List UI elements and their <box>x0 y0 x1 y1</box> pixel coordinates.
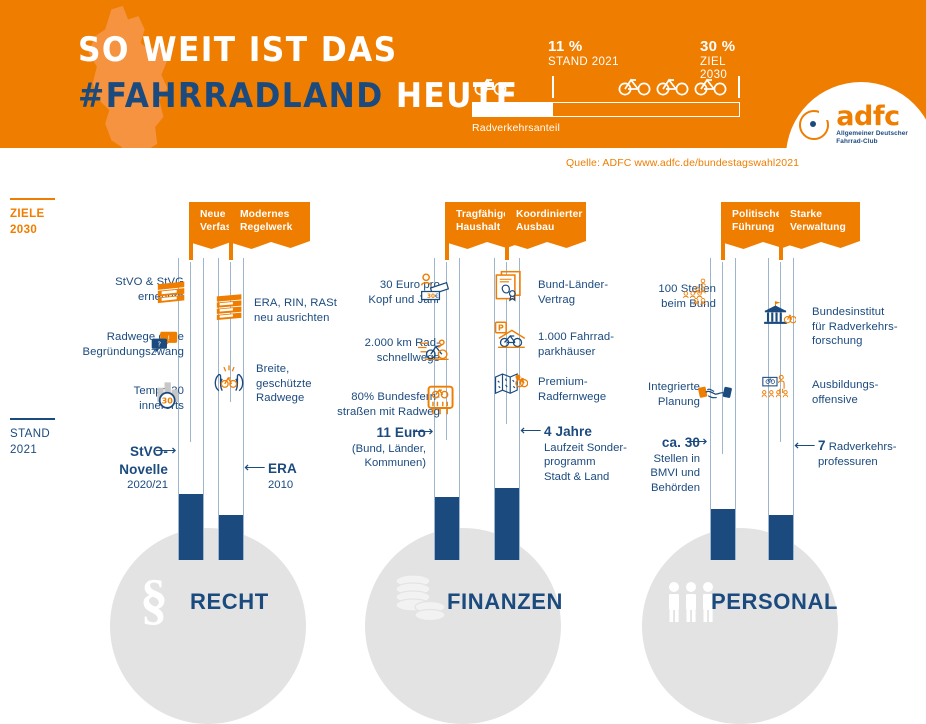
contract-seal-icon <box>492 270 526 302</box>
bike-parking-icon: P <box>494 320 528 352</box>
flag-koordinierter-ausbau: Koordinierter Ausbau <box>508 202 586 252</box>
item-bund-laender-vertrag: Bund-Länder- Vertrag <box>538 278 608 307</box>
group-name-recht: RECHT <box>190 589 269 615</box>
headline-line1: SO WEIT IST DAS <box>78 30 518 70</box>
scale-goal-line2: 2030 <box>10 223 55 239</box>
flag-modernes-regelwerk: Modernes Regelwerk <box>232 202 310 252</box>
flag-line2-starke-verwaltung: Verwaltung <box>790 222 846 233</box>
base-callout-era: ERA 2010 <box>268 460 297 492</box>
base-headline: ERA <box>268 460 297 478</box>
progress-current-year: STAND 2021 <box>548 56 619 70</box>
source-note: Quelle: ADFC www.adfc.de/bundestagswahl2… <box>566 157 799 169</box>
tube-fill-politische-fuehrung <box>711 509 735 560</box>
item-label-line2: geschützte <box>256 378 312 390</box>
item-label-line1: Ausbildungs- <box>812 379 879 391</box>
progress-target-value: 30 % <box>700 38 752 56</box>
flag-line1-politische-fuehrung: Politische <box>732 209 782 220</box>
tube-fill-tragfaehiger-haushalt <box>435 497 459 560</box>
svg-text:30: 30 <box>427 294 435 300</box>
base-sub2: Kommunen) <box>326 456 426 471</box>
item-1000-fahrradparkhaeuser: 1.000 Fahrrad- parkhäuser <box>538 330 614 359</box>
tube-connector-6 <box>780 262 781 442</box>
coins-icon <box>392 572 448 626</box>
item-label-line3: Radwege <box>256 392 304 404</box>
item-label-line1: Breite, <box>256 363 289 375</box>
base-headline-rest: Radverkehrs- <box>829 441 897 453</box>
item-label-line2: für Radverkehrs- <box>812 321 898 333</box>
headline-rest: HEUTE <box>396 76 519 116</box>
pedestal-personal <box>642 528 838 724</box>
flagpole-starke-verwaltung <box>779 202 783 260</box>
svg-text:!: ! <box>167 334 170 342</box>
base-sub: professuren <box>818 455 897 470</box>
base-headline-line2: Novelle <box>74 461 168 479</box>
bicycle-icon <box>694 76 728 96</box>
item-label-line2: neu ausrichten <box>254 312 330 324</box>
flagpole-politische-fuehrung <box>721 202 725 260</box>
handshake-icon <box>698 378 732 410</box>
map-route-icon <box>494 368 528 400</box>
adfc-subtitle-line2: Fahrrad-Club <box>836 138 908 146</box>
scale-goal-line1: ZIELE <box>10 207 55 223</box>
adfc-wordmark: adfc <box>836 104 908 130</box>
base-sub: 2010 <box>268 478 297 493</box>
scale-status-2021: STAND 2021 <box>10 418 55 458</box>
progress-current-label: 11 % STAND 2021 <box>548 38 619 69</box>
progress-current-value: 11 % <box>548 38 619 56</box>
arrow-to-tube-5: ⟶ <box>686 434 708 449</box>
base-callout-11-euro: 11 Euro (Bund, Länder, Kommunen) <box>326 424 426 471</box>
standards-books-icon <box>214 292 248 324</box>
bike-highway-sign-icon <box>424 384 458 416</box>
headline-hashtag: #FAHRRADLAND <box>78 76 384 116</box>
tube-fill-koordinierter-ausbau <box>495 488 519 560</box>
adfc-wheel-icon <box>799 110 829 140</box>
scale-now-rule <box>10 418 55 420</box>
base-sub: Stellen in <box>610 452 700 467</box>
group-name-personal: PERSONAL <box>711 589 838 615</box>
base-headline: 11 Euro <box>326 424 426 442</box>
arrow-to-tube-1: ⟶ <box>155 443 177 458</box>
arrow-to-tube-6: ⟵ <box>794 438 816 453</box>
institute-building-icon <box>762 298 796 330</box>
flagpole-modernes-regelwerk <box>229 202 233 260</box>
flagpole-koordinierter-ausbau <box>505 202 509 260</box>
arrow-to-tube-2: ⟵ <box>244 460 266 475</box>
header-banner: SO WEIT IST DAS #FAHRRADLAND HEUTE 11 % … <box>0 0 926 148</box>
base-sub: (Bund, Länder, <box>326 442 426 457</box>
tube-connector-5 <box>722 262 723 454</box>
scale-now-line1: STAND <box>10 427 55 443</box>
flag-starke-verwaltung: Starke Verwaltung <box>782 202 860 252</box>
tube-fill-modernes-regelwerk <box>219 515 243 560</box>
progress-caption: Radverkehrsanteil <box>472 122 560 134</box>
flag-line2-koordinierter-ausbau: Ausbau <box>516 222 554 233</box>
paragraph-icon: § <box>140 572 168 628</box>
speech-bubbles-icon: ! ? <box>150 326 184 358</box>
infographic-root: SO WEIT IST DAS #FAHRRADLAND HEUTE 11 % … <box>0 0 926 655</box>
adfc-subtitle-line1: Allgemeiner Deutscher <box>836 130 908 138</box>
base-headline-line1: StVO- <box>74 443 168 461</box>
tube-connector-1 <box>190 262 191 442</box>
item-bundesinstitut-radverkehrsforschung: Bundesinstitut für Radverkehrs- forschun… <box>812 305 898 349</box>
item-ausbildungsoffensive: Ausbildungs- offensive <box>812 378 879 407</box>
item-breite-geschuetzte-radwege: Breite, geschützte Radwege <box>256 362 312 406</box>
flag-line1-neue-verfassung: Neue <box>200 209 226 220</box>
scale-goal-rule <box>10 198 55 200</box>
item-label-line2: Vertrag <box>538 294 575 306</box>
item-label-line1: Bund-Länder- <box>538 279 608 291</box>
group-name-finanzen: FINANZEN <box>447 589 563 615</box>
flagpole-tragfaehiger-haushalt <box>445 202 449 260</box>
item-label-line1: 1.000 Fahrrad- <box>538 331 614 343</box>
flagpole-neue-verfassung <box>189 202 193 260</box>
item-label-line2: Radfernwege <box>538 391 606 403</box>
base-headline: 7 <box>818 438 826 453</box>
staff-group-icon <box>678 278 712 310</box>
arrow-to-tube-3: ⟶ <box>412 424 434 439</box>
item-label-line2: offensive <box>812 394 858 406</box>
base-callout-7-professuren: 7 Radverkehrs- professuren <box>818 437 897 469</box>
item-label-line1: Bundesinstitut <box>812 306 884 318</box>
flag-line2-politische-fuehrung: Führung <box>732 222 774 233</box>
item-label-line2: Planung <box>658 396 700 408</box>
svg-text:30: 30 <box>162 396 174 405</box>
law-books-icon <box>155 278 189 310</box>
base-sub2: BMVI und <box>610 466 700 481</box>
page-title: SO WEIT IST DAS #FAHRRADLAND HEUTE <box>78 30 557 116</box>
tube-fill-neue-verfassung <box>179 494 203 560</box>
adfc-logo: adfc Allgemeiner Deutscher Fahrrad-Club <box>799 104 908 146</box>
flag-line1-koordinierter-ausbau: Koordinierter <box>516 209 583 220</box>
speed-limit-30-icon: 30 <box>152 378 186 410</box>
item-label-line1: Premium- <box>538 376 588 388</box>
item-premium-radfernwege: Premium- Radfernwege <box>538 375 606 404</box>
flag-line1-starke-verwaltung: Starke <box>790 209 822 220</box>
bicycle-icon <box>656 76 690 96</box>
base-callout-stvo-novelle: StVO- Novelle 2020/21 <box>74 443 168 493</box>
base-sub: 2020/21 <box>74 478 168 493</box>
item-label-line3: forschung <box>812 335 863 347</box>
item-label-line1: ERA, RIN, RASt <box>254 297 337 309</box>
fast-cyclist-icon <box>418 334 452 366</box>
money-banknotes-icon: 30 € <box>418 272 452 304</box>
training-icon <box>760 372 794 404</box>
tube-fill-starke-verwaltung <box>769 515 793 560</box>
scale-now-line2: 2021 <box>10 443 55 459</box>
pedestal-finanzen <box>365 528 561 724</box>
item-label-line2: parkhäuser <box>538 346 596 358</box>
headline-line2: #FAHRRADLAND HEUTE <box>78 76 518 116</box>
flag-line1-modernes-regelwerk: Modernes <box>240 209 289 220</box>
scale-goal-2030: ZIELE 2030 <box>10 198 55 238</box>
arrow-to-tube-4: ⟵ <box>520 423 542 438</box>
flag-line2-modernes-regelwerk: Regelwerk <box>240 222 292 233</box>
item-integrierte-planung: Integrierte Planung <box>630 380 700 409</box>
item-80-prozent-bundesfernstrassen: 80% Bundesfern- straßen mit Radweg <box>326 390 440 419</box>
base-sub3: Behörden <box>610 481 700 496</box>
bicycle-icon <box>618 76 652 96</box>
protected-bikelane-icon <box>212 362 246 394</box>
flag-line2-tragfaehiger-haushalt: Haushalt <box>456 222 500 233</box>
item-era-rin-rast: ERA, RIN, RASt neu ausrichten <box>254 296 337 325</box>
svg-text:?: ? <box>158 341 162 349</box>
item-label-line1: Integrierte <box>648 381 700 393</box>
svg-text:P: P <box>498 322 504 332</box>
svg-text:€: € <box>435 294 439 300</box>
